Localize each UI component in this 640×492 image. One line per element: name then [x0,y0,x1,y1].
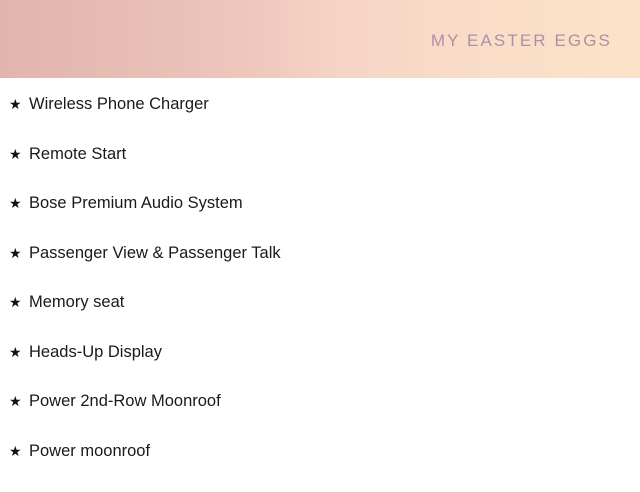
list-item-label: Passenger View & Passenger Talk [29,245,281,262]
star-icon: ★ [9,445,29,459]
slide: MY EASTER EGGS ★ Wireless Phone Charger … [0,0,640,480]
slide-content: ★ Wireless Phone Charger ★ Remote Start … [0,78,640,480]
star-icon: ★ [9,395,29,409]
list-item: ★ Heads-Up Display [0,344,640,394]
star-icon: ★ [9,296,29,310]
list-item-label: Heads-Up Display [29,344,162,361]
list-item: ★ Wireless Phone Charger [0,96,640,146]
list-item: ★ Power 2nd-Row Moonroof [0,393,640,443]
list-item-label: Remote Start [29,146,126,163]
list-item-label: Wireless Phone Charger [29,96,209,113]
star-icon: ★ [9,346,29,360]
list-item-label: Power moonroof [29,443,150,460]
star-icon: ★ [9,98,29,112]
list-item-label: Power 2nd-Row Moonroof [29,393,221,410]
list-item: ★ Power moonroof [0,443,640,492]
list-item: ★ Bose Premium Audio System [0,195,640,245]
list-item: ★ Memory seat [0,294,640,344]
feature-list: ★ Wireless Phone Charger ★ Remote Start … [0,96,640,492]
slide-header: MY EASTER EGGS [0,0,640,78]
list-item: ★ Remote Start [0,146,640,196]
list-item-label: Memory seat [29,294,124,311]
list-item: ★ Passenger View & Passenger Talk [0,245,640,295]
page-title: MY EASTER EGGS [431,32,640,49]
star-icon: ★ [9,148,29,162]
list-item-label: Bose Premium Audio System [29,195,243,212]
star-icon: ★ [9,197,29,211]
star-icon: ★ [9,247,29,261]
